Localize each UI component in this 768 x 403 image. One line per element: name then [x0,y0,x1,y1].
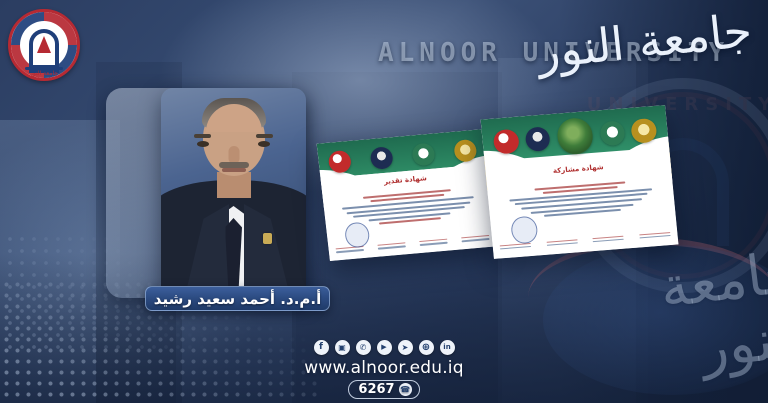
poster-canvas: ALNOOR UNIVERSITY UNIVERSITY جامعة النور… [0,0,768,403]
whatsapp-icon[interactable]: ✆ [356,340,371,355]
linkedin-icon[interactable]: in [440,340,455,355]
youtube-glyph: ▶ [381,344,386,351]
portrait-lapel-pin [263,233,272,244]
certificate-right[interactable]: شهادة مشاركة [481,105,679,259]
portrait-eyebrow-left [194,134,211,138]
certificate-left-seal-2 [369,146,394,170]
certificate-right-seal-4 [631,117,658,143]
facebook-icon[interactable]: f [314,340,329,355]
telegram-glyph: ➤ [402,344,409,352]
portrait-photo [161,88,306,296]
certificate-left-seal-3 [411,142,436,166]
certificate-right-seal-1 [493,128,520,154]
logo-emblem-icon [37,36,51,53]
certificate-left[interactable]: شهادة تقدير [317,129,498,261]
university-logo[interactable]: جامعة النور [8,9,80,81]
portrait-eyebrow-right [256,134,273,138]
website-url[interactable]: www.alnoor.edu.iq [0,358,768,378]
website-glyph: ⊕ [422,343,430,353]
certificate-right-seal-2 [524,126,551,152]
person-name-plate: أ.م.د. أحمد سعيد رشيد [145,286,330,311]
instagram-icon[interactable]: ▣ [335,340,350,355]
portrait-mouth [222,168,246,172]
website-icon[interactable]: ⊕ [419,340,434,355]
portrait-eye-right [258,141,270,147]
linkedin-glyph: in [443,344,450,351]
logo-arabic-text: جامعة النور [30,70,58,77]
whatsapp-glyph: ✆ [360,344,367,352]
footer: f ▣ ✆ ▶ ➤ ⊕ in www.alnoor.edu.iq 6267 ☎ [0,340,768,399]
certificate-right-seal-3 [599,120,626,146]
certificate-right-seal-center [556,117,595,155]
phone-number: 6267 [358,382,394,397]
social-icon-row: f ▣ ✆ ▶ ➤ ⊕ in [0,340,768,355]
youtube-icon[interactable]: ▶ [377,340,392,355]
certificate-left-seal-1 [328,150,353,174]
phone-badge[interactable]: 6267 ☎ [348,380,419,399]
telegram-icon[interactable]: ➤ [398,340,413,355]
certificate-left-seal-4 [453,139,478,163]
portrait-eye-left [197,141,209,147]
phone-icon: ☎ [399,383,412,396]
instagram-glyph: ▣ [338,344,346,352]
facebook-glyph: f [319,343,323,352]
